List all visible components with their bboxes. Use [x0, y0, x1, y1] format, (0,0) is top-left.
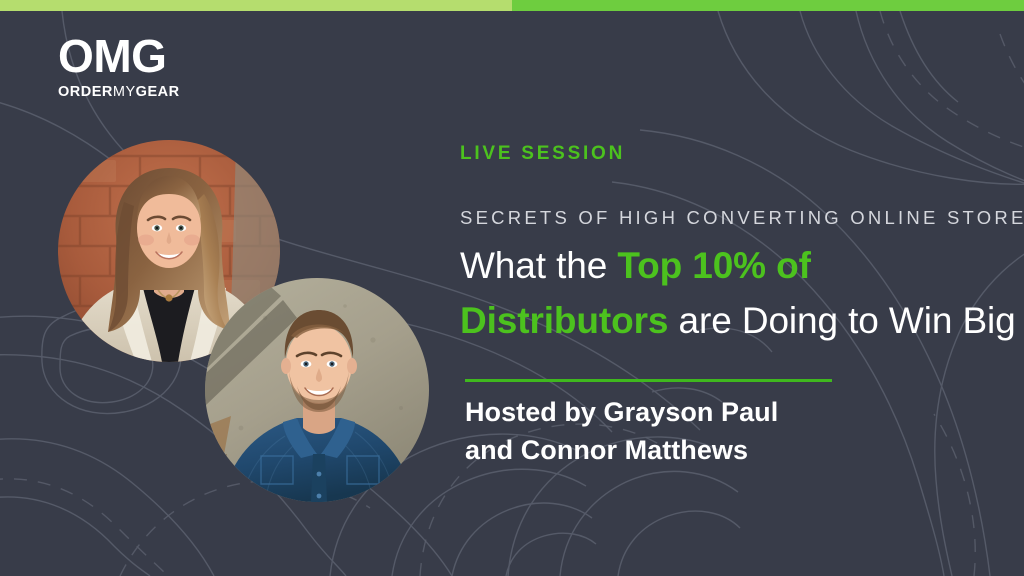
wordmark-order: ORDER [58, 84, 113, 100]
green-divider-rule [465, 379, 832, 382]
copy-column: LIVE SESSION SECRETS OF HIGH CONVERTING … [460, 0, 1020, 576]
hosts-line-2: and Connor Matthews [465, 431, 985, 469]
top-accent-bar-light-segment [0, 0, 512, 11]
hosts-line-1: Hosted by Grayson Paul [465, 393, 985, 431]
top-accent-bar [0, 0, 1024, 11]
headline: What the Top 10% of Distributors are Doi… [460, 238, 1020, 348]
live-session-eyebrow: LIVE SESSION [460, 144, 625, 163]
omg-logo[interactable]: OMG ORDERMYGEAR [58, 33, 180, 100]
hosts-block: Hosted by Grayson Paul and Connor Matthe… [465, 393, 985, 470]
wordmark-my: MY [113, 84, 136, 100]
omg-logo-wordmark: ORDERMYGEAR [58, 85, 180, 100]
headline-segment-leading: What the [460, 245, 617, 286]
speaker-photo-connor [205, 278, 429, 502]
top-accent-bar-saturated-segment [512, 0, 1024, 11]
session-kicker: SECRETS OF HIGH CONVERTING ONLINE STORES [460, 209, 1024, 228]
headline-segment-trailing: are Doing to Win Big [668, 300, 1015, 341]
promo-banner: OMG ORDERMYGEAR [0, 0, 1024, 576]
wordmark-gear: GEAR [136, 84, 180, 100]
omg-logo-mark: OMG [58, 33, 180, 79]
